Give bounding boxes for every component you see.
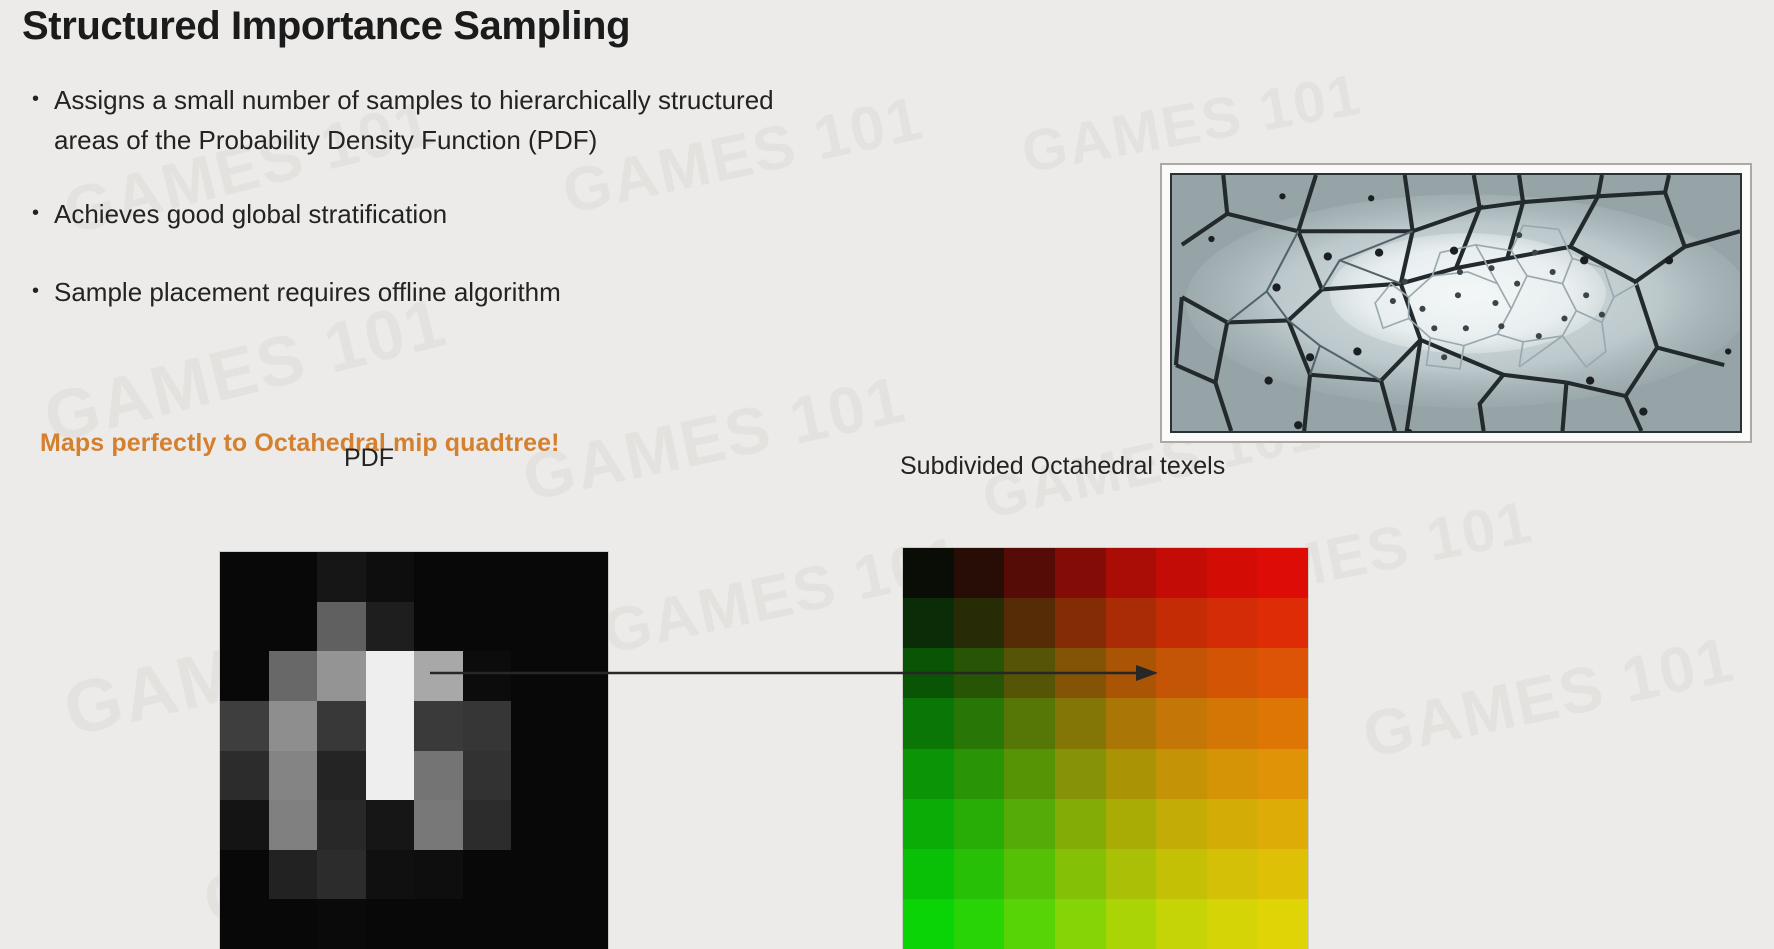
octahedral-texel <box>954 899 1005 949</box>
pdf-to-octahedral-arrow <box>430 655 1160 691</box>
octahedral-texel <box>1207 849 1258 899</box>
pdf-texel <box>220 651 269 701</box>
pdf-texel <box>463 552 512 602</box>
pdf-texel <box>220 800 269 850</box>
pdf-texel <box>366 651 415 701</box>
octahedral-texel <box>954 548 1005 598</box>
octahedral-texel <box>903 598 954 648</box>
octahedral-texel <box>1106 548 1157 598</box>
pdf-texel <box>560 701 609 751</box>
octahedral-texel <box>1257 548 1308 598</box>
pdf-texel <box>220 850 269 900</box>
pdf-texel <box>511 552 560 602</box>
octahedral-texel <box>903 849 954 899</box>
octahedral-texel <box>1207 698 1258 748</box>
pdf-texel <box>269 602 318 652</box>
octahedral-texel <box>1106 799 1157 849</box>
pdf-texel <box>317 800 366 850</box>
pdf-texel <box>463 701 512 751</box>
pdf-texel <box>269 651 318 701</box>
octahedral-texel <box>1156 598 1207 648</box>
pdf-figure-label: PDF <box>344 444 394 473</box>
octahedral-texel <box>1004 899 1055 949</box>
pdf-texel <box>317 602 366 652</box>
octahedral-texel <box>954 598 1005 648</box>
list-item: • Assigns a small number of samples to h… <box>32 80 1032 160</box>
octahedral-texel <box>1207 749 1258 799</box>
octahedral-texel <box>1106 598 1157 648</box>
octahedral-texel <box>954 849 1005 899</box>
octahedral-texel <box>1004 548 1055 598</box>
octahedral-figure-label: Subdivided Octahedral texels <box>900 452 1225 481</box>
pdf-texel <box>511 602 560 652</box>
bullet-glyph: • <box>32 80 54 160</box>
pdf-texel <box>269 850 318 900</box>
highlight-callout: Maps perfectly to Octahedral mip quadtre… <box>40 429 560 458</box>
octahedral-pixel-grid <box>903 548 1308 949</box>
pdf-texel <box>317 751 366 801</box>
pdf-texel <box>366 552 415 602</box>
pdf-texel <box>317 850 366 900</box>
octahedral-texel <box>1207 799 1258 849</box>
pdf-texel <box>414 602 463 652</box>
pdf-texel <box>220 552 269 602</box>
pdf-texel <box>366 701 415 751</box>
pdf-texel <box>269 552 318 602</box>
octahedral-texel <box>1106 749 1157 799</box>
pdf-texel <box>220 701 269 751</box>
pdf-texel <box>269 800 318 850</box>
pdf-texel <box>414 751 463 801</box>
bullet-glyph: • <box>32 272 54 312</box>
octahedral-texel <box>1004 598 1055 648</box>
pdf-texel <box>414 850 463 900</box>
pdf-texel <box>269 751 318 801</box>
octahedral-texel <box>1156 799 1207 849</box>
pdf-texel <box>560 899 609 949</box>
pdf-texel <box>269 701 318 751</box>
pdf-texel <box>366 751 415 801</box>
octahedral-texel <box>903 548 954 598</box>
pdf-texel <box>463 751 512 801</box>
octahedral-texel <box>1004 799 1055 849</box>
octahedral-texel <box>1004 849 1055 899</box>
pdf-texel <box>511 751 560 801</box>
pdf-texel <box>463 899 512 949</box>
voronoi-figure-frame <box>1160 163 1752 443</box>
octahedral-texel <box>1055 698 1106 748</box>
pdf-pixel-grid <box>220 552 608 949</box>
bullet-glyph: • <box>32 194 54 234</box>
octahedral-texel <box>1257 648 1308 698</box>
pdf-texel <box>560 552 609 602</box>
octahedral-texel <box>1106 899 1157 949</box>
pdf-texel <box>560 602 609 652</box>
octahedral-texel <box>1055 749 1106 799</box>
pdf-texel <box>317 651 366 701</box>
octahedral-texel <box>1106 849 1157 899</box>
octahedral-texel <box>954 698 1005 748</box>
octahedral-texel <box>1257 799 1308 849</box>
octahedral-texel <box>1257 749 1308 799</box>
octahedral-texel <box>903 799 954 849</box>
list-item: • Sample placement requires offline algo… <box>32 272 932 312</box>
pdf-texel <box>220 602 269 652</box>
octahedral-texel <box>1257 899 1308 949</box>
pdf-texel <box>463 602 512 652</box>
list-item-label: Achieves good global stratification <box>54 194 447 234</box>
pdf-texel <box>317 899 366 949</box>
pdf-texel <box>511 850 560 900</box>
octahedral-texel <box>1156 698 1207 748</box>
octahedral-texel <box>1055 849 1106 899</box>
pdf-texel <box>414 552 463 602</box>
pdf-texel <box>560 800 609 850</box>
octahedral-texel <box>1257 698 1308 748</box>
octahedral-texel <box>1257 849 1308 899</box>
pdf-texel <box>560 850 609 900</box>
octahedral-texel <box>903 899 954 949</box>
pdf-texel <box>414 899 463 949</box>
list-item-label: Assigns a small number of samples to hie… <box>54 80 774 160</box>
pdf-texel <box>220 899 269 949</box>
octahedral-texel <box>1156 548 1207 598</box>
pdf-texel <box>366 850 415 900</box>
octahedral-texel <box>1156 849 1207 899</box>
list-item: • Achieves good global stratification <box>32 194 932 234</box>
octahedral-texel <box>1055 799 1106 849</box>
octahedral-texel <box>1257 598 1308 648</box>
octahedral-texel <box>1207 899 1258 949</box>
pdf-texel <box>366 602 415 652</box>
pdf-texel <box>366 899 415 949</box>
octahedral-texel <box>903 749 954 799</box>
pdf-texel <box>511 899 560 949</box>
octahedral-texel <box>1106 698 1157 748</box>
octahedral-texel <box>1207 548 1258 598</box>
voronoi-figure-image <box>1170 173 1742 433</box>
octahedral-texel <box>1055 548 1106 598</box>
pdf-texel <box>463 800 512 850</box>
octahedral-texel <box>1207 598 1258 648</box>
pdf-texel <box>414 701 463 751</box>
octahedral-texel <box>954 749 1005 799</box>
octahedral-texel <box>1055 899 1106 949</box>
pdf-texel <box>220 751 269 801</box>
octahedral-texel <box>1004 698 1055 748</box>
pdf-texel <box>560 751 609 801</box>
octahedral-texel <box>1156 648 1207 698</box>
pdf-texel <box>366 800 415 850</box>
page-title: Structured Importance Sampling <box>22 0 630 52</box>
slide-content: Structured Importance Sampling • Assigns… <box>0 0 1774 949</box>
pdf-texel <box>317 552 366 602</box>
octahedral-texel <box>1004 749 1055 799</box>
octahedral-texel <box>954 799 1005 849</box>
pdf-texel <box>414 800 463 850</box>
octahedral-texel <box>903 698 954 748</box>
pdf-texel <box>511 701 560 751</box>
pdf-texel <box>269 899 318 949</box>
octahedral-texel <box>1156 899 1207 949</box>
pdf-texel <box>463 850 512 900</box>
octahedral-texel <box>1207 648 1258 698</box>
list-item-label: Sample placement requires offline algori… <box>54 272 561 312</box>
pdf-texel <box>511 800 560 850</box>
octahedral-texel <box>1156 749 1207 799</box>
voronoi-svg <box>1172 175 1740 431</box>
octahedral-texel <box>1055 598 1106 648</box>
pdf-texel <box>317 701 366 751</box>
